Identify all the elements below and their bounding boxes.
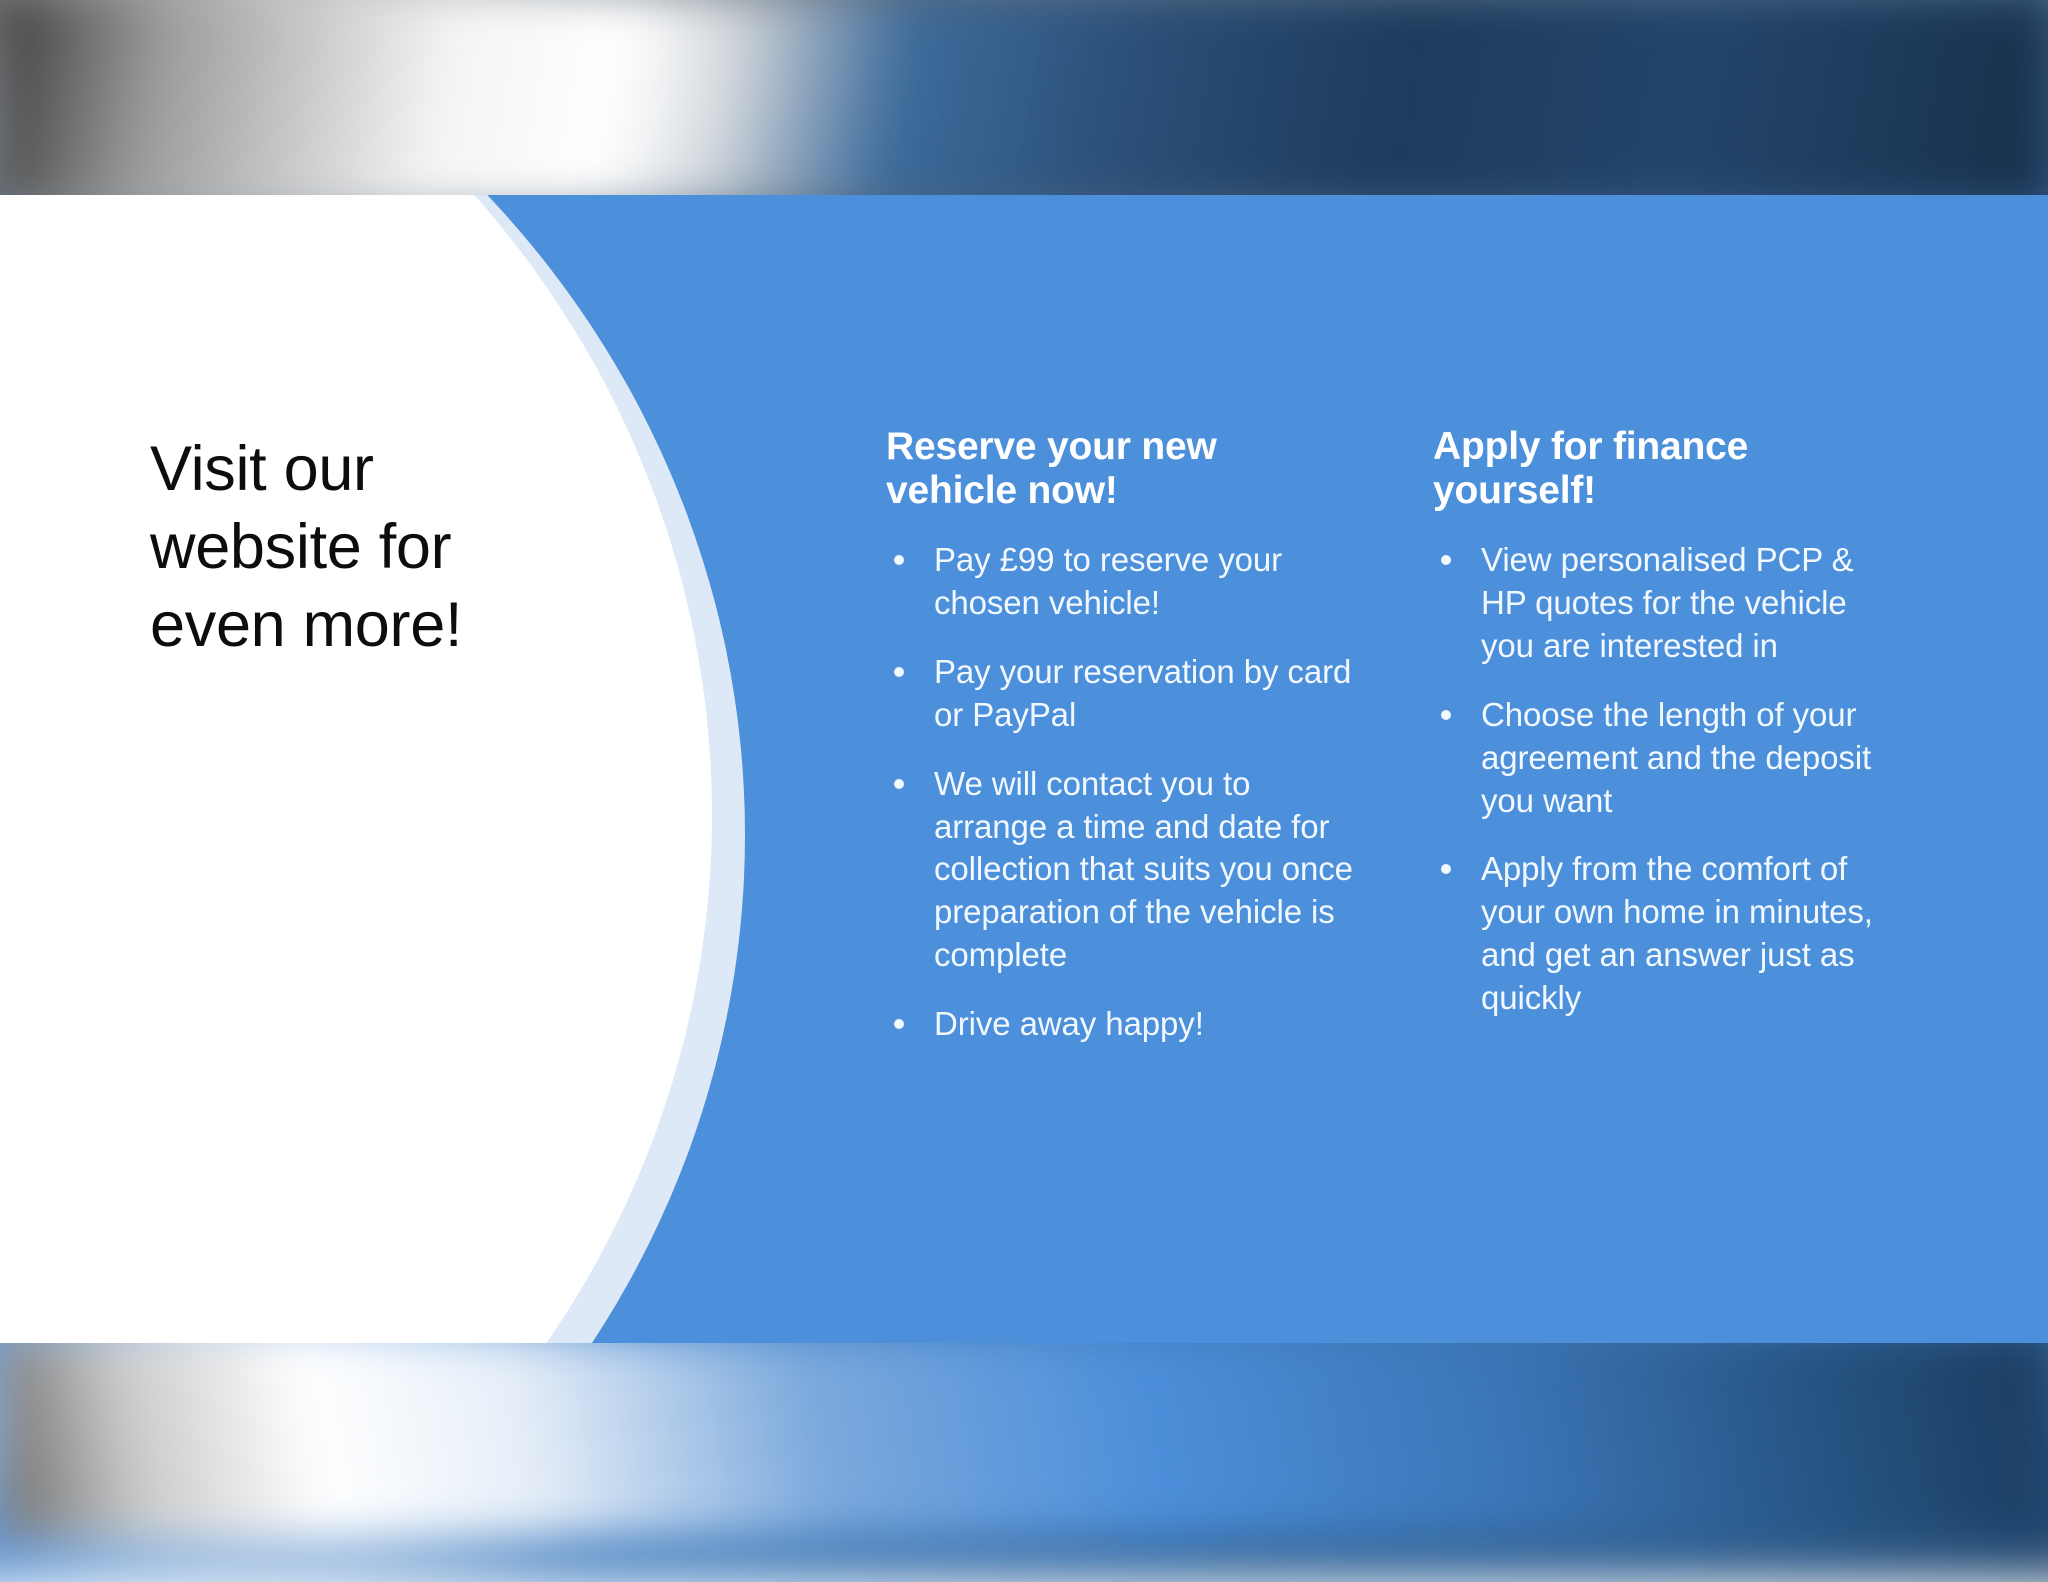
- column-reserve: Reserve your new vehicle now! Pay £99 to…: [886, 425, 1356, 1072]
- list-item: View personalised PCP & HP quotes for th…: [1433, 539, 1903, 668]
- list-item-text: We will contact you to arrange a time an…: [934, 765, 1353, 974]
- list-item: Choose the length of your agreement and …: [1433, 694, 1903, 823]
- list-item: Pay your reservation by card or PayPal: [886, 651, 1356, 737]
- blurred-backdrop-bottom: [0, 1336, 2048, 1536]
- blurred-backdrop-top: [0, 0, 2048, 200]
- column-heading-finance: Apply for finance yourself!: [1433, 425, 1903, 513]
- bullet-dot-icon: [894, 779, 904, 789]
- slide-title: Visit our website for even more!: [150, 430, 550, 664]
- list-item-text: Choose the length of your agreement and …: [1481, 696, 1871, 819]
- bullet-dot-icon: [894, 555, 904, 565]
- list-item: Drive away happy!: [886, 1003, 1356, 1046]
- bullet-dot-icon: [894, 1019, 904, 1029]
- bullet-list-reserve: Pay £99 to reserve your chosen vehicle! …: [886, 539, 1356, 1046]
- bullet-list-finance: View personalised PCP & HP quotes for th…: [1433, 539, 1903, 1020]
- column-finance: Apply for finance yourself! View persona…: [1433, 425, 1903, 1046]
- bullet-dot-icon: [1441, 864, 1451, 874]
- list-item-text: View personalised PCP & HP quotes for th…: [1481, 541, 1854, 664]
- list-item-text: Apply from the comfort of your own home …: [1481, 850, 1873, 1016]
- list-item: Apply from the comfort of your own home …: [1433, 848, 1903, 1020]
- column-heading-reserve: Reserve your new vehicle now!: [886, 425, 1356, 513]
- list-item-text: Pay your reservation by card or PayPal: [934, 653, 1351, 733]
- bullet-dot-icon: [1441, 710, 1451, 720]
- presentation-slide: Visit our website for even more! Reserve…: [0, 195, 2048, 1343]
- bullet-dot-icon: [894, 667, 904, 677]
- list-item-text: Drive away happy!: [934, 1005, 1204, 1042]
- list-item: We will contact you to arrange a time an…: [886, 763, 1356, 977]
- list-item: Pay £99 to reserve your chosen vehicle!: [886, 539, 1356, 625]
- list-item-text: Pay £99 to reserve your chosen vehicle!: [934, 541, 1282, 621]
- bullet-dot-icon: [1441, 555, 1451, 565]
